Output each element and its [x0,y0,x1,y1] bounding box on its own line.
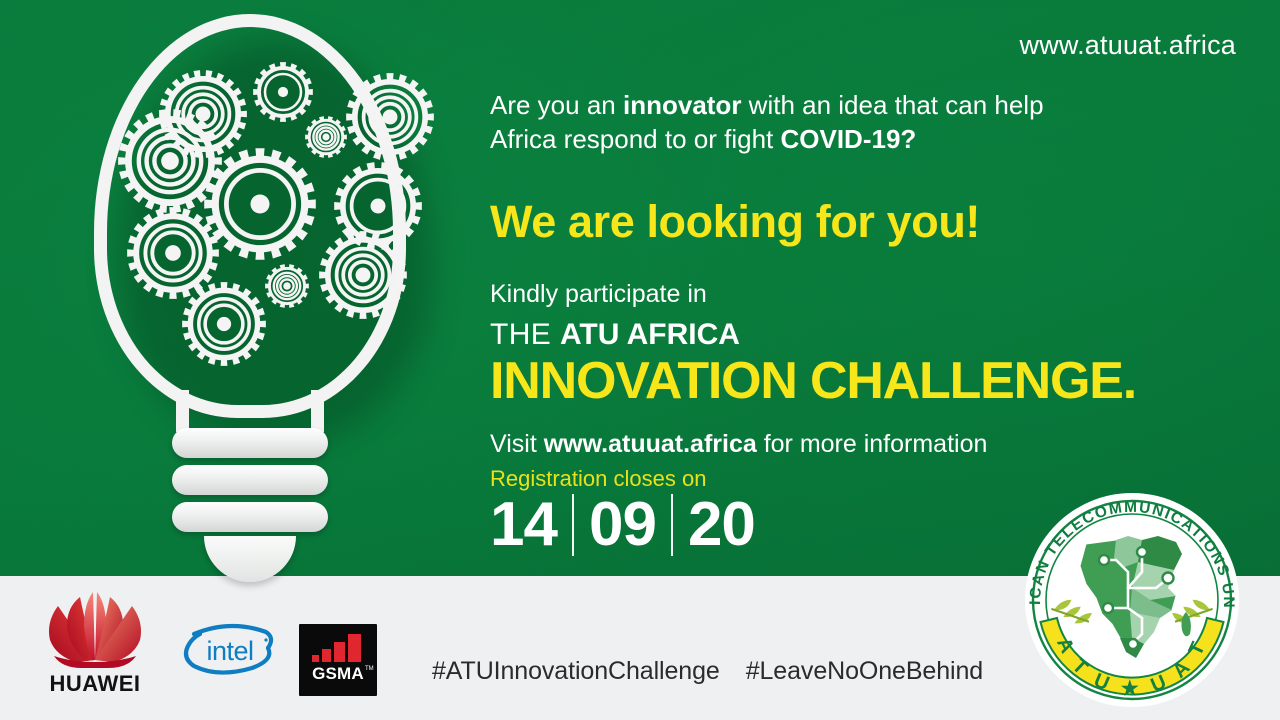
the-word: THE [490,318,560,351]
huawei-wordmark: HUAWEI [50,671,141,696]
innovation-challenge-title: INNOVATION CHALLENGE. [490,354,1250,409]
gear-icon [182,282,266,366]
lead-line1-bold: innovator [623,90,741,120]
lead-line1-post: with an idea that can help [741,90,1043,120]
lead-line2-pre: Africa respond to or fight [490,124,780,154]
intel-registered-mark [264,638,267,641]
visit-url[interactable]: www.atuuat.africa [544,430,757,458]
atu-africa-bold: ATU AFRICA [560,318,740,351]
the-atu-africa-line: THE ATU AFRICA [490,318,1250,352]
hashtag-1[interactable]: #ATUInnovationChallenge [432,657,720,685]
gear-icon [127,207,219,299]
registration-closes-label: Registration closes on [490,466,1250,492]
poster-canvas: www.atuuat.africa Are you an innovator w… [0,0,1280,720]
lead-paragraph: Are you an innovator with an idea that c… [490,88,1250,157]
date-day: 14 [490,494,557,556]
gsma-wordmark: GSMA [312,664,364,683]
gear-icon [346,73,434,161]
gear-icon [204,148,316,260]
huawei-logo: HUAWEI [36,588,154,696]
gear-icon [265,264,309,308]
atu-logo-badge: AFRICAN TELECOMMUNICATIONS UNION A T U ★… [1024,492,1240,708]
date-month: 09 [589,494,656,556]
lightbulb-gears-icon [72,4,442,574]
gsma-logo: GSMA TM [299,624,377,696]
lead-line2-bold: COVID-19? [780,124,916,154]
lead-line1-pre: Are you an [490,90,623,120]
visit-line: Visit www.atuuat.africa for more informa… [490,430,1250,459]
date-separator-2 [671,494,673,556]
date-year: 20 [688,494,755,556]
main-text-column: Are you an innovator with an idea that c… [490,88,1250,556]
hashtags: #ATUInnovationChallenge#LeaveNoOneBehind [432,657,983,686]
gear-icon [319,231,407,319]
intel-wordmark: intel [206,636,253,666]
gear-icon [253,62,313,122]
gear-icon [305,116,347,158]
gsma-trademark-mark: TM [365,666,374,672]
intel-logo: intel [180,622,280,678]
gear-cluster-icon [72,4,442,574]
header-url[interactable]: www.atuuat.africa [1020,30,1237,61]
shout-headline: We are looking for you! [490,199,1250,244]
visit-post: for more information [757,430,988,458]
huawei-petals-icon [49,592,141,668]
kindly-participate-text: Kindly participate in [490,280,1250,309]
hashtag-2[interactable]: #LeaveNoOneBehind [746,657,983,685]
visit-pre: Visit [490,430,544,458]
date-separator-1 [572,494,574,556]
